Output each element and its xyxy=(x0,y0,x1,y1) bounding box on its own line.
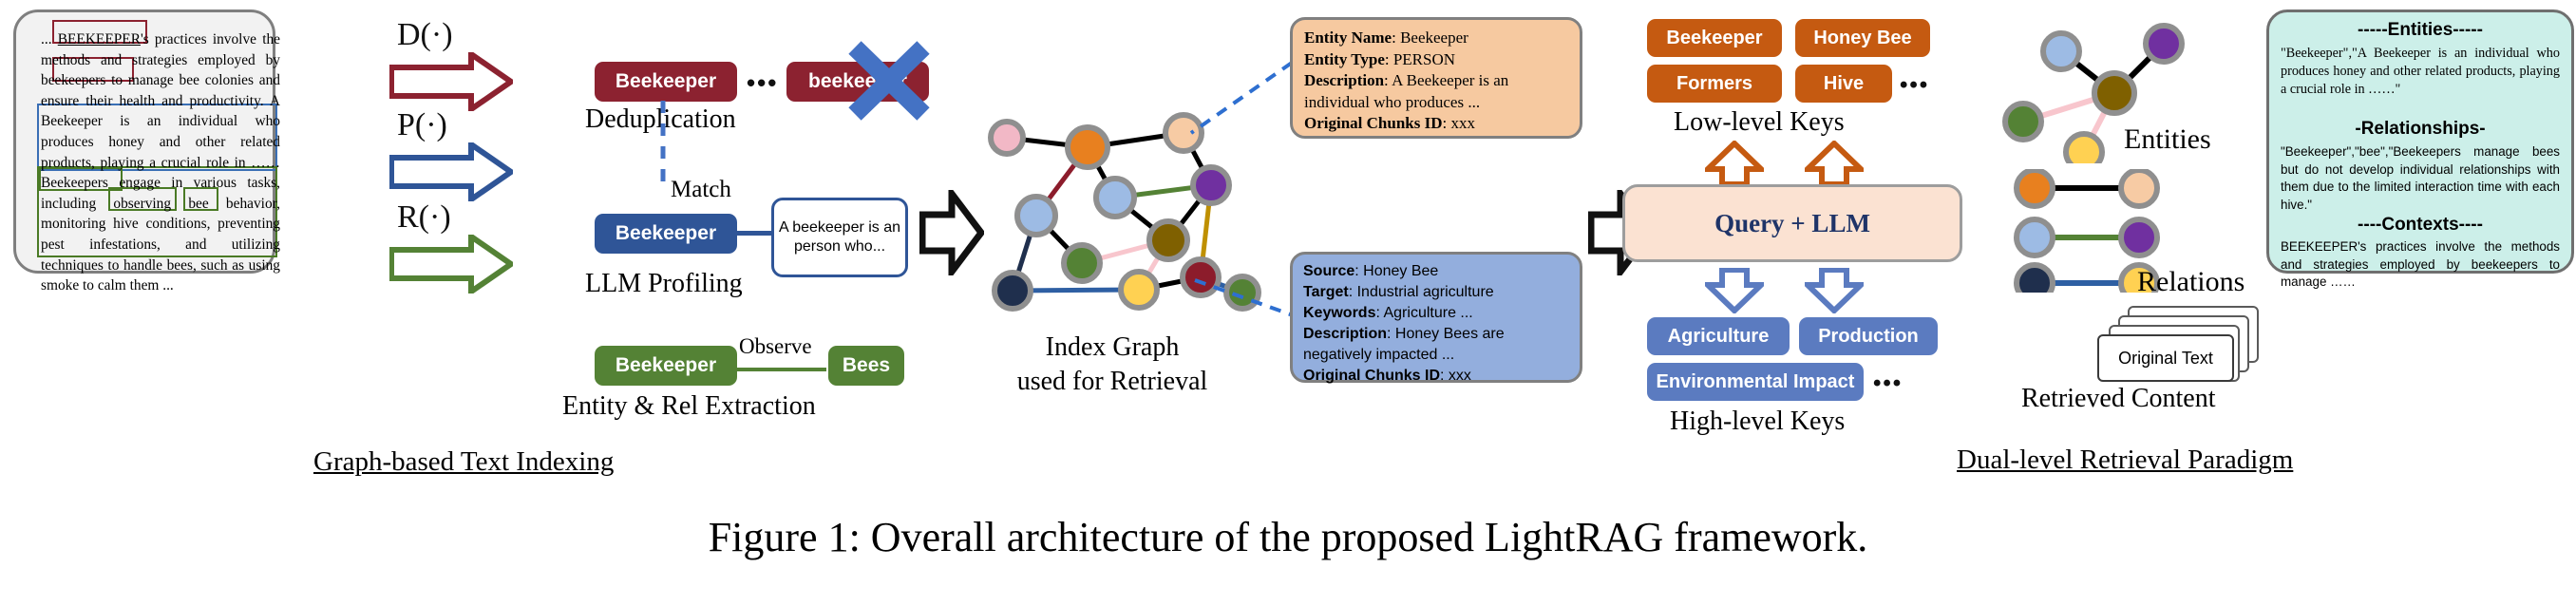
graph-node[interactable] xyxy=(1017,197,1055,235)
x-cross-icon xyxy=(845,40,933,126)
label-match: Match xyxy=(671,177,731,203)
figure-canvas: ... BEEKEEPER's practices involve the me… xyxy=(0,0,2576,606)
relation-edge xyxy=(731,368,826,371)
arrow-down-high-2 xyxy=(1805,268,1864,313)
high-level-key-1[interactable]: Production xyxy=(1799,317,1938,355)
operator-label-dedup: D(·) xyxy=(397,17,453,53)
arrow-down-high-1 xyxy=(1705,268,1764,313)
relation-chunks-value: xxx xyxy=(1449,368,1471,384)
retrieved-content-label: Retrieved Content xyxy=(2021,384,2216,414)
low-level-keys-ellipsis: ••• xyxy=(1900,72,1929,99)
graph-node[interactable] xyxy=(994,273,1031,309)
relation-keywords-label: Keywords xyxy=(1303,305,1375,321)
src-green-a: Beekeepers xyxy=(41,175,108,191)
src-green-c: observing xyxy=(113,196,171,212)
entity-chunks-value: xxx xyxy=(1450,114,1475,132)
match-connector xyxy=(659,101,667,197)
entity-type-value: PERSON xyxy=(1393,50,1455,68)
chip-profile-entity[interactable]: Beekeeper xyxy=(595,214,737,254)
source-document-card: ... BEEKEEPER's practices involve the me… xyxy=(13,9,275,274)
arrow-up-low-2 xyxy=(1805,141,1864,186)
arrow-dedup xyxy=(389,52,513,111)
graph-node[interactable] xyxy=(1096,179,1134,217)
graph-node[interactable] xyxy=(991,122,1023,154)
src-prefix: ... xyxy=(41,31,58,47)
entity-callout-line xyxy=(1178,57,1301,171)
profile-connector xyxy=(737,231,773,236)
entities-label: Entities xyxy=(2124,123,2211,156)
output-relationships-text: "Beekeeper","bee","Beekeepers manage bee… xyxy=(2281,143,2560,214)
output-card: -----Entities----- "Beekeeper","A Beekee… xyxy=(2266,9,2574,274)
output-contexts-text: BEEKEEPER's practices involve the method… xyxy=(2281,238,2560,292)
entity-name-value: Beekeeper xyxy=(1400,28,1468,47)
graph-node[interactable] xyxy=(1064,245,1100,281)
low-level-key-1[interactable]: Honey Bee xyxy=(1795,19,1930,57)
dedup-ellipsis: ••• xyxy=(747,68,778,98)
output-entities-text: "Beekeeper","A Beekeeper is an individua… xyxy=(2281,45,2560,99)
graph-node[interactable] xyxy=(1121,272,1157,308)
src-entity-beekeepers: beekeepers xyxy=(41,72,105,88)
operator-label-profile: P(·) xyxy=(397,107,447,143)
index-graph-label-line1: Index Graph xyxy=(1003,332,1222,363)
entity-description-label: Description xyxy=(1304,71,1384,89)
chip-extract-source[interactable]: Beekeeper xyxy=(595,346,737,386)
src-entity-beekeeper-upper: BEEKEEPER xyxy=(58,31,141,47)
relation-source-value: Honey Bee xyxy=(1363,263,1438,279)
low-level-key-0[interactable]: Beekeeper xyxy=(1647,19,1782,57)
relation-info-card: Source: Honey Bee Target: Industrial agr… xyxy=(1290,252,1582,383)
entity-type-label: Entity Type xyxy=(1304,50,1385,68)
label-entity-rel-extraction: Entity & Rel Extraction xyxy=(562,391,816,422)
relation-description-label: Description xyxy=(1303,326,1387,342)
relation-chunks-label: Original Chunks ID xyxy=(1303,368,1440,384)
entity-chunks-label: Original Chunks ID xyxy=(1304,114,1443,132)
stage1-title: Graph-based Text Indexing xyxy=(313,446,614,478)
index-graph-label-line2: used for Retrieval xyxy=(984,367,1241,397)
arrow-extract xyxy=(389,235,513,294)
graph-node[interactable] xyxy=(1068,127,1108,167)
low-level-key-3[interactable]: Hive xyxy=(1795,65,1892,103)
label-llm-profiling: LLM Profiling xyxy=(585,269,743,299)
relation-callout-line xyxy=(1187,242,1301,328)
arrow-profile xyxy=(389,142,513,201)
operator-label-extract: R(·) xyxy=(397,199,451,236)
relation-keywords-value: Agriculture ... xyxy=(1383,305,1472,321)
relation-source-label: Source xyxy=(1303,263,1354,279)
chip-dedup-keep[interactable]: Beekeeper xyxy=(595,62,737,102)
low-level-key-2[interactable]: Formers xyxy=(1647,65,1782,103)
profile-description-box: A beekeeper is an person who... xyxy=(771,198,908,277)
entity-info-card: Entity Name: Beekeeper Entity Type: PERS… xyxy=(1290,17,1582,139)
relations-label: Relations xyxy=(2137,266,2245,298)
graph-node[interactable] xyxy=(1193,167,1229,203)
label-relation-observe: Observe xyxy=(739,334,812,359)
high-level-keys-label: High-level Keys xyxy=(1670,407,1845,437)
graph-node[interactable] xyxy=(1149,221,1187,259)
figure-caption: Figure 1: Overall architecture of the pr… xyxy=(0,513,2576,561)
chip-extract-target[interactable]: Bees xyxy=(828,346,904,386)
output-relationships-header: -Relationships- xyxy=(2269,119,2571,140)
output-entities-header: -----Entities----- xyxy=(2269,20,2571,41)
high-level-keys-ellipsis: ••• xyxy=(1873,370,1903,397)
arrow-up-low-1 xyxy=(1705,141,1764,186)
high-level-key-0[interactable]: Agriculture xyxy=(1647,317,1790,355)
src-green-d: bee xyxy=(171,196,226,212)
source-document-text: ... BEEKEEPER's practices involve the me… xyxy=(41,29,280,275)
low-level-keys-label: Low-level Keys xyxy=(1674,107,1845,138)
high-level-key-2[interactable]: Environmental Impact xyxy=(1647,363,1864,401)
entity-name-label: Entity Name xyxy=(1304,28,1392,47)
query-llm-box[interactable]: Query + LLM xyxy=(1622,184,1962,262)
relation-target-value: Industrial agriculture xyxy=(1357,284,1494,300)
original-text-card[interactable]: Original Text xyxy=(2097,334,2234,382)
stage2-title: Dual-level Retrieval Paradigm xyxy=(1957,445,2293,476)
output-contexts-header: ----Contexts---- xyxy=(2269,215,2571,236)
relation-target-label: Target xyxy=(1303,284,1349,300)
